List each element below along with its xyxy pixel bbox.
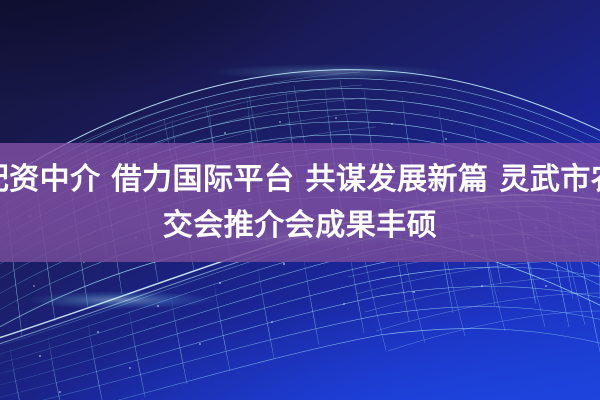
banner-image: 配资中介 借力国际平台 共谋发展新篇 灵武市农 交会推介会成果丰硕 bbox=[0, 0, 600, 400]
headline-layer: 配资中介 借力国际平台 共谋发展新篇 灵武市农 交会推介会成果丰硕 bbox=[0, 0, 600, 400]
headline-line-1: 配资中介 借力国际平台 共谋发展新篇 灵武市农 bbox=[0, 159, 600, 201]
headline-line-2: 交会推介会成果丰硕 bbox=[163, 205, 438, 247]
headline-block: 配资中介 借力国际平台 共谋发展新篇 灵武市农 交会推介会成果丰硕 bbox=[0, 148, 600, 258]
